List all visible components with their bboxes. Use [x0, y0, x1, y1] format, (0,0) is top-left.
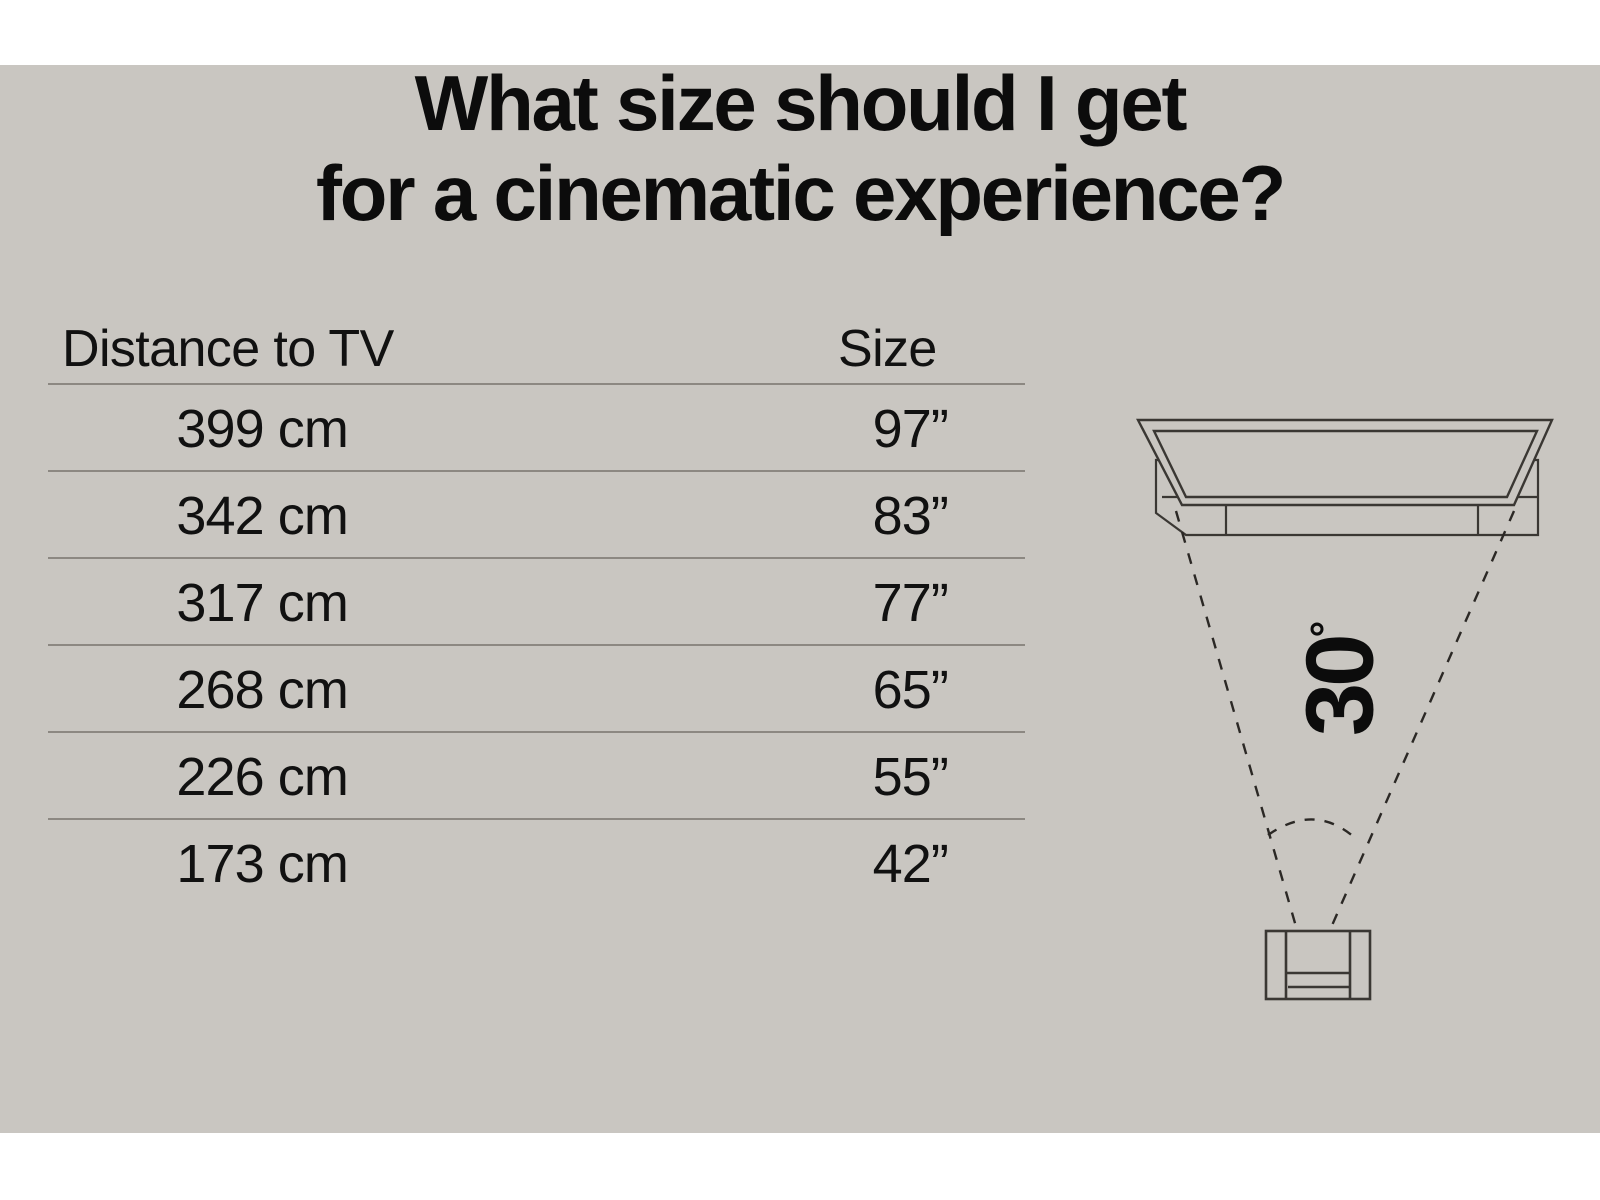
- cell-size: 97”: [668, 398, 948, 460]
- table-header-row: Distance to TV Size: [48, 305, 1025, 383]
- infographic-page: What size should I get for a cinematic e…: [0, 0, 1600, 1200]
- table-row: 317 cm 77”: [48, 557, 1025, 644]
- table-row: 342 cm 83”: [48, 470, 1025, 557]
- table-row: 268 cm 65”: [48, 644, 1025, 731]
- viewing-angle-diagram: [1090, 385, 1570, 1025]
- page-title-line-2: for a cinematic experience?: [0, 148, 1600, 238]
- armchair-top-view: [1266, 931, 1370, 999]
- cell-distance: 268 cm: [48, 659, 348, 721]
- cell-size: 42”: [668, 833, 948, 895]
- angle-arc-dashed: [1268, 819, 1354, 837]
- cell-size: 77”: [668, 572, 948, 634]
- table-row: 173 cm 42”: [48, 818, 1025, 905]
- cell-size: 65”: [668, 659, 948, 721]
- column-header-distance: Distance to TV: [62, 319, 394, 379]
- cell-size: 55”: [668, 746, 948, 808]
- cell-size: 83”: [668, 485, 948, 547]
- cell-distance: 173 cm: [48, 833, 348, 895]
- table-row: 226 cm 55”: [48, 731, 1025, 818]
- cell-distance: 226 cm: [48, 746, 348, 808]
- page-title: What size should I get for a cinematic e…: [0, 58, 1600, 238]
- page-title-line-1: What size should I get: [0, 58, 1600, 148]
- size-recommendation-table: Distance to TV Size 399 cm 97” 342 cm 83…: [48, 305, 1025, 905]
- cell-distance: 317 cm: [48, 572, 348, 634]
- column-header-size: Size: [838, 319, 937, 379]
- cell-distance: 399 cm: [48, 398, 348, 460]
- table-row: 399 cm 97”: [48, 383, 1025, 470]
- viewing-angle-cone-dashed: [1176, 511, 1514, 930]
- cell-distance: 342 cm: [48, 485, 348, 547]
- tv-top-view: [1138, 420, 1552, 505]
